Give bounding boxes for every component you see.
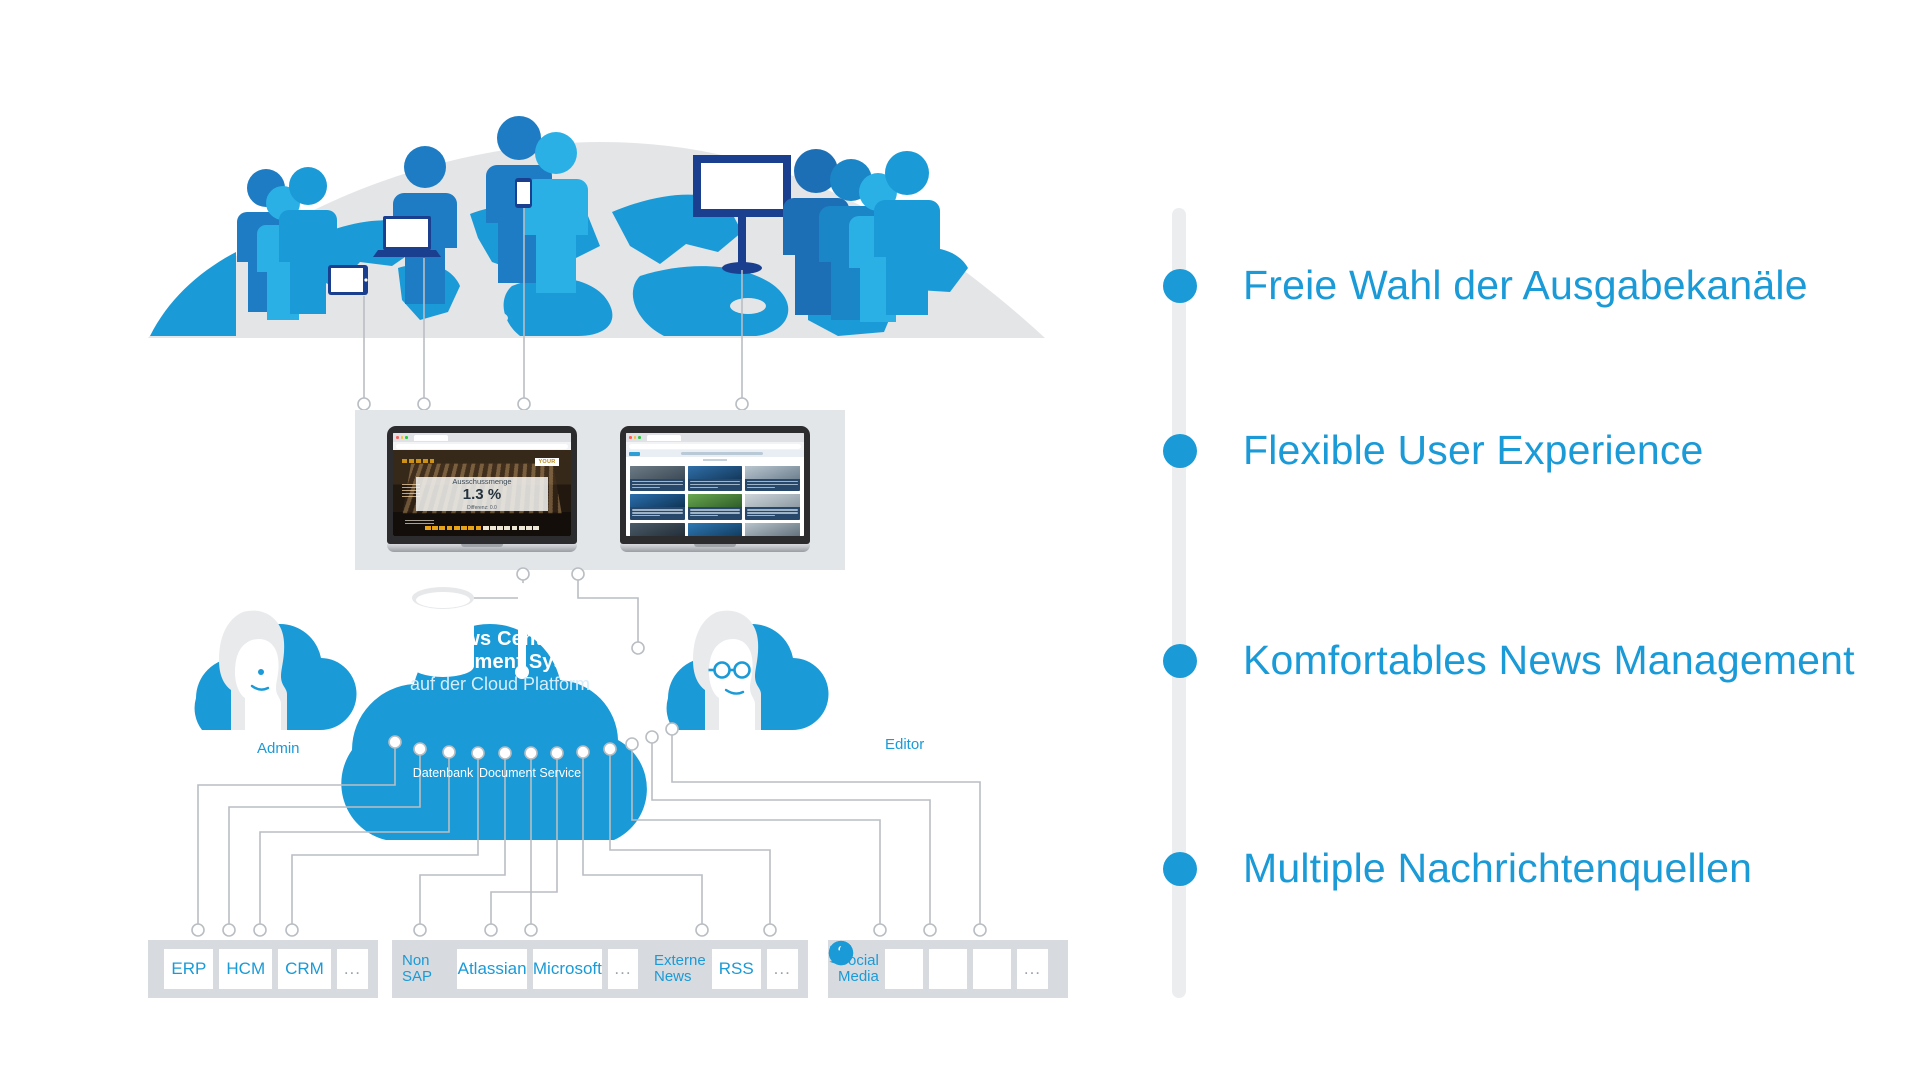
- admin-label: Admin: [246, 738, 311, 760]
- smartphone-device: [515, 178, 532, 208]
- editor-cloud: [667, 611, 829, 730]
- source-group-externe-news: Externe News RSS ...: [644, 940, 808, 998]
- news-tile[interactable]: [745, 494, 800, 519]
- news-app-header: [626, 450, 804, 457]
- timeline-bullet-icon: [1163, 644, 1197, 678]
- source-group-social-media: Social Media ...: [828, 940, 1068, 998]
- tablet-device: [328, 265, 368, 295]
- slide-canvas: YOUR Ausschussmenge 1.3 % Differenz: 0.0: [0, 0, 1920, 1080]
- cloud-title-block: News Center Management System auf der Cl…: [350, 628, 650, 695]
- source-tile-more[interactable]: ...: [767, 949, 798, 989]
- connector-endpoints: [358, 398, 748, 410]
- timeline-item-1[interactable]: Flexible User Experience: [1163, 427, 1704, 474]
- source-group-non-sap: Non SAP Atlassian Microsoft ...: [392, 940, 648, 998]
- source-tile[interactable]: Atlassian: [457, 949, 526, 989]
- kpi-subtitle: Differenz: 0.0: [467, 505, 497, 511]
- kpi-title: Ausschussmenge: [452, 477, 511, 486]
- person-group-phone: [486, 116, 588, 293]
- person-group-right: [783, 149, 940, 322]
- kpi-logo-badge: YOUR: [535, 458, 558, 466]
- kpi-card: Ausschussmenge 1.3 % Differenz: 0.0: [416, 477, 548, 511]
- source-group-label: Externe News: [654, 953, 706, 985]
- architecture-diagram: YOUR Ausschussmenge 1.3 % Differenz: 0.0: [0, 0, 1130, 1080]
- timeline-item-2[interactable]: Komfortables News Management: [1163, 637, 1855, 684]
- source-group-label: Non SAP: [402, 953, 451, 985]
- browser-addressbar: [626, 442, 804, 450]
- browser-tabbar: [626, 433, 804, 442]
- source-tile[interactable]: HCM: [219, 949, 272, 989]
- source-tile-more[interactable]: ...: [608, 949, 638, 989]
- source-tile[interactable]: Microsoft: [533, 949, 602, 989]
- timeline-bullet-icon: [1163, 852, 1197, 886]
- news-tile[interactable]: [630, 466, 685, 491]
- kpi-value: 1.3 %: [463, 486, 501, 505]
- news-tile[interactable]: [688, 466, 743, 491]
- cloud-title-line1: News Center: [350, 628, 650, 651]
- laptop-device: [373, 216, 441, 257]
- source-tile-twitter[interactable]: [973, 949, 1011, 989]
- cloud-title-line2: Management System: [350, 651, 650, 674]
- timeline-bullet-icon: [1163, 434, 1197, 468]
- twitter-icon: [828, 940, 854, 966]
- global-audience-illustration: [0, 0, 1130, 420]
- news-tile[interactable]: [688, 494, 743, 519]
- cloud-title-line3: auf der Cloud Platform: [350, 674, 650, 695]
- app-logo-icon: [629, 452, 640, 456]
- browser-addressbar: [393, 442, 571, 450]
- editor-label: Editor: [874, 734, 935, 756]
- news-center-cloud: [341, 583, 647, 840]
- browser-tabbar: [393, 433, 571, 442]
- document-service-caption: Document Service: [450, 766, 610, 780]
- news-tile[interactable]: [630, 494, 685, 519]
- source-tile[interactable]: ERP: [164, 949, 213, 989]
- admin-cloud: [195, 611, 357, 730]
- timeline-item-0[interactable]: Freie Wahl der Ausgabekanäle: [1163, 262, 1808, 309]
- source-tile-more[interactable]: ...: [337, 949, 368, 989]
- source-tile-facebook[interactable]: [929, 949, 967, 989]
- timeline-item-label: Multiple Nachrichtenquellen: [1243, 845, 1752, 892]
- source-tile[interactable]: CRM: [278, 949, 331, 989]
- source-group-sap-systems: ERP HCM CRM ...: [148, 940, 378, 998]
- source-tile-more[interactable]: ...: [1017, 949, 1048, 989]
- timeline-item-label: Freie Wahl der Ausgabekanäle: [1243, 262, 1808, 309]
- timeline-item-label: Komfortables News Management: [1243, 637, 1855, 684]
- source-tile[interactable]: RSS: [712, 949, 761, 989]
- timeline-bullet-icon: [1163, 269, 1197, 303]
- source-tile-xing[interactable]: [885, 949, 923, 989]
- timeline-item-label: Flexible User Experience: [1243, 427, 1704, 474]
- news-tile[interactable]: [745, 466, 800, 491]
- timeline-item-3[interactable]: Multiple Nachrichtenquellen: [1163, 845, 1752, 892]
